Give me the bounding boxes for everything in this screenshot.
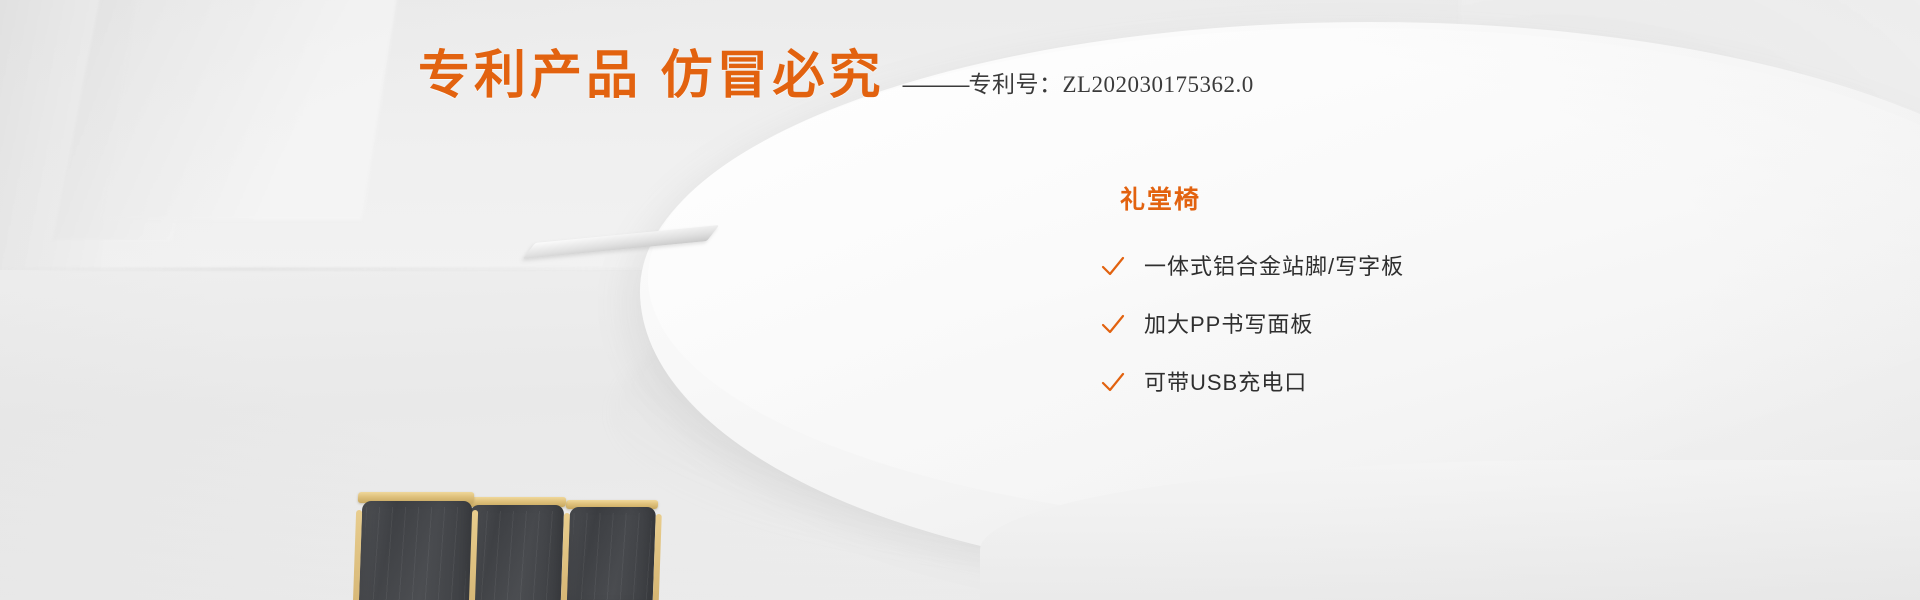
patent-number-line: ———专利号：ZL202030175362.0 [902,73,1253,102]
chair-seat-back [466,505,564,600]
headline-row: 专利产品 仿冒必究 ———专利号：ZL202030175362.0 [418,50,1254,102]
headline-text: 专利产品 仿冒必究 [418,50,884,102]
check-icon [1100,370,1126,396]
chair-seat-back [358,501,473,600]
feature-item: 可带USB充电口 [1100,370,1620,396]
check-icon [1100,312,1126,338]
patent-label: 专利号： [968,71,1062,97]
check-icon [1100,254,1126,280]
chair-seat-back [566,507,656,600]
writing-tablet-panel [523,225,719,259]
feature-label: 可带USB充电口 [1144,372,1307,394]
patent-number-value: ZL202030175362.0 [1062,72,1253,97]
feature-item: 加大PP书写面板 [1100,312,1620,338]
product-image-auditorium-chairs [338,140,758,480]
feature-label: 一体式铝合金站脚/写字板 [1144,256,1404,278]
feature-item: 一体式铝合金站脚/写字板 [1100,254,1620,280]
product-title: 礼堂椅 [1120,180,1620,216]
product-banner: 专利产品 仿冒必究 ———专利号：ZL202030175362.0 礼堂椅 一体… [0,0,1920,600]
feature-column: 礼堂椅 一体式铝合金站脚/写字板 加大PP书写面板 可带USB充电口 [1100,180,1620,428]
patent-dash-prefix: ——— [902,71,968,97]
feature-label: 加大PP书写面板 [1144,314,1313,336]
